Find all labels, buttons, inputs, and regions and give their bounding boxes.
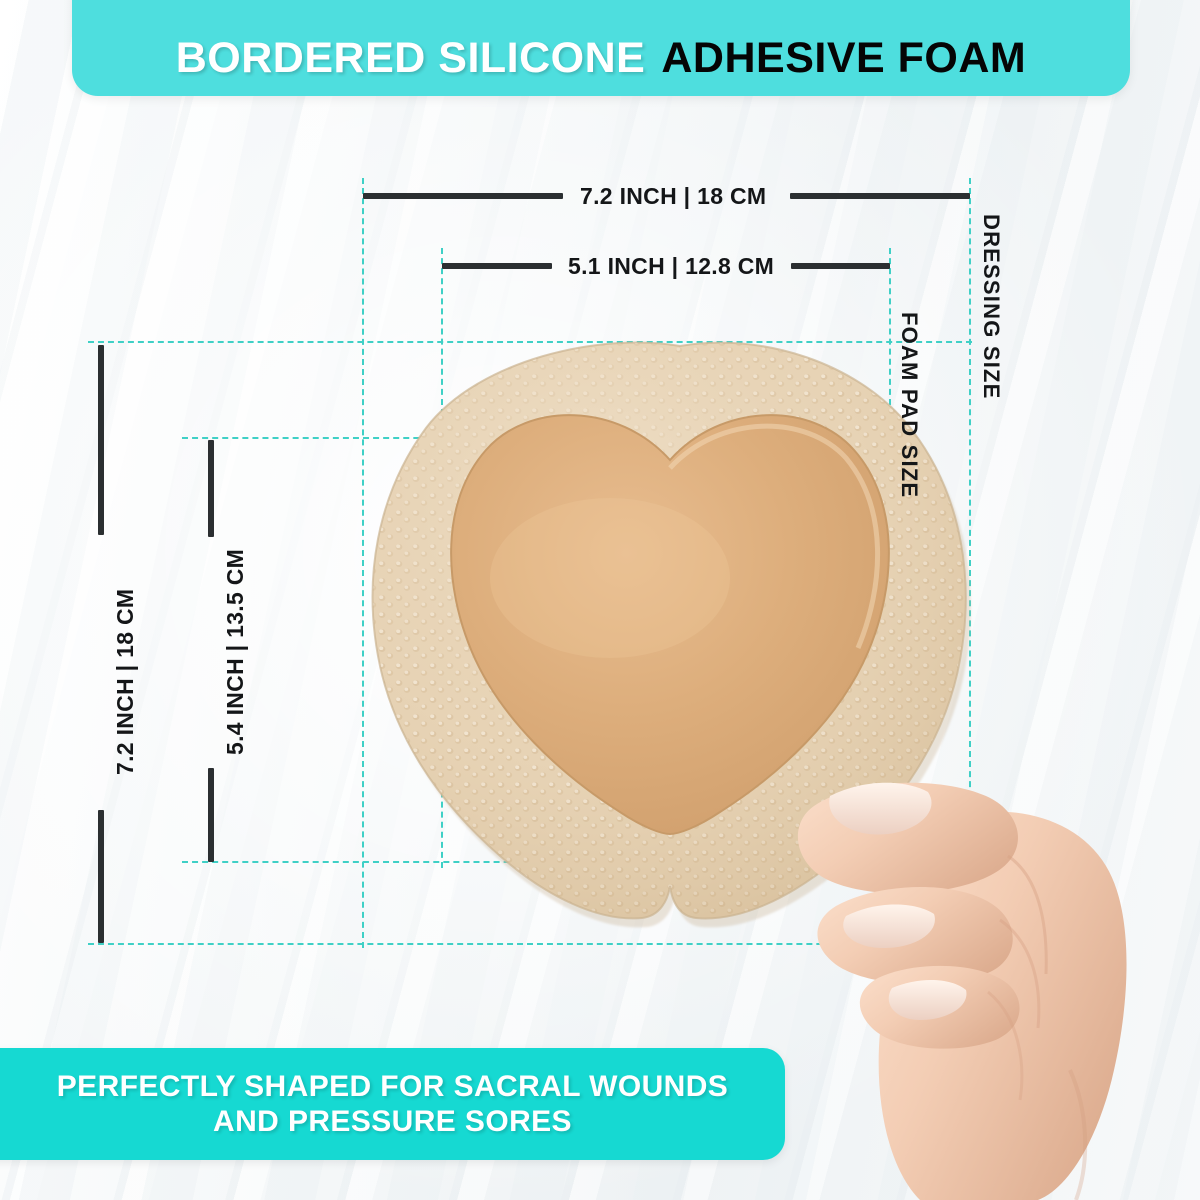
- header-title-primary: BORDERED SILICONE: [176, 34, 646, 82]
- measure-bar-pad-height-top: [208, 440, 214, 537]
- hand-holding-product: [770, 770, 1130, 1200]
- dimension-dressing-height: 7.2 INCH | 18 CM: [112, 589, 139, 775]
- measure-bar-pad-height-bottom: [208, 768, 214, 862]
- hand-illustration: [770, 770, 1130, 1200]
- label-dressing-size: DRESSING SIZE: [978, 214, 1004, 400]
- measure-bar-dressing-width-left: [363, 193, 563, 199]
- foam-pad-sheen: [490, 498, 730, 658]
- dimension-dressing-width: 7.2 INCH | 18 CM: [570, 183, 776, 210]
- footer-banner: PERFECTLY SHAPED FOR SACRAL WOUNDS AND P…: [0, 1048, 785, 1160]
- measure-bar-dressing-height-bottom: [98, 810, 104, 943]
- label-foam-pad-size: FOAM PAD SIZE: [896, 312, 922, 498]
- footer-caption-line2: AND PRESSURE SORES: [213, 1104, 572, 1139]
- dimension-pad-width: 5.1 INCH | 12.8 CM: [558, 253, 784, 280]
- header-title-secondary: ADHESIVE FOAM: [661, 34, 1026, 82]
- product-infographic: 7.2 INCH | 18 CM 5.1 INCH | 12.8 CM 7.2 …: [0, 0, 1200, 1200]
- footer-caption-line1: PERFECTLY SHAPED FOR SACRAL WOUNDS: [57, 1069, 728, 1104]
- measure-bar-pad-width-left: [442, 263, 552, 269]
- dimension-pad-height: 5.4 INCH | 13.5 CM: [222, 549, 249, 755]
- header-title: BORDERED SILICONEADHESIVE FOAM: [176, 37, 1026, 80]
- measure-bar-dressing-width-right: [790, 193, 970, 199]
- measure-bar-pad-width-right: [791, 263, 890, 269]
- header-banner: BORDERED SILICONEADHESIVE FOAM: [72, 0, 1130, 96]
- measure-bar-dressing-height-top: [98, 345, 104, 535]
